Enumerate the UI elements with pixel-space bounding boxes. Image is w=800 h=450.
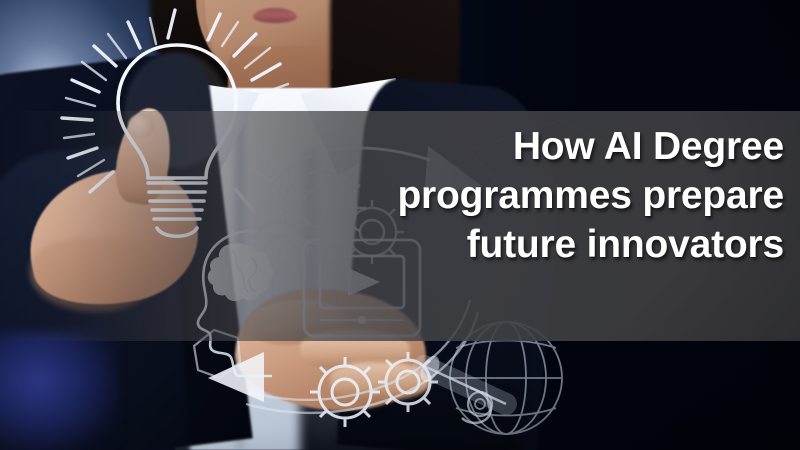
banner-root: How AI Degree programmes prepare future … <box>0 0 800 450</box>
page-title: How AI Degree programmes prepare future … <box>224 122 784 269</box>
